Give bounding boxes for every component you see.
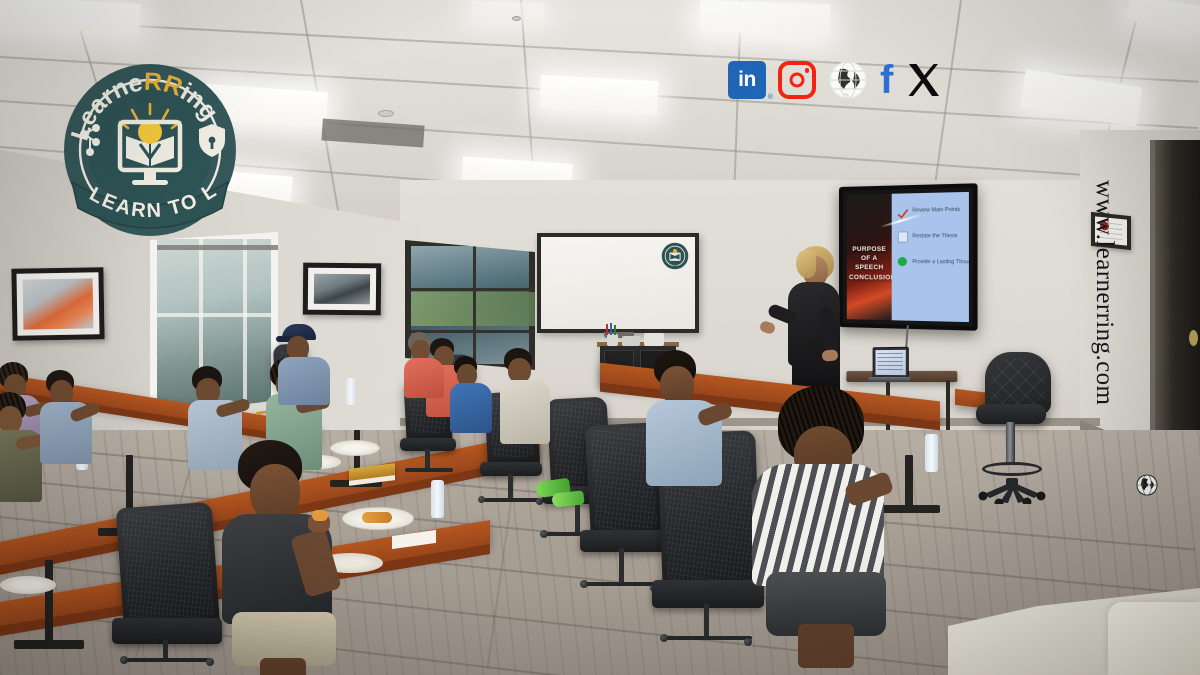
snack-plate	[0, 576, 56, 594]
water-bottle	[346, 378, 356, 405]
water-bottle	[431, 480, 444, 518]
chair-caster	[660, 634, 668, 642]
table-leg	[905, 455, 913, 511]
student-head	[0, 406, 22, 433]
globe-icon	[1136, 474, 1158, 496]
student	[44, 370, 102, 468]
website-watermark-text: www.learnerring.com	[1090, 180, 1118, 500]
pen-icon	[606, 324, 608, 335]
green-dot-icon	[898, 257, 908, 268]
chair-post	[619, 548, 624, 586]
laptop[interactable]	[873, 347, 909, 378]
slide-bullet-1-text: Review Main Points	[912, 207, 960, 214]
pen-cup	[607, 334, 618, 346]
instagram-dot	[805, 68, 810, 73]
framed-osprey-photo	[303, 263, 381, 316]
whiteboard	[537, 233, 699, 333]
smoke-detector-icon	[512, 16, 521, 21]
chair-base	[666, 636, 752, 640]
door-knob-icon[interactable]	[1189, 330, 1198, 346]
slide-bullet-2-text: Restate the Thesis	[912, 234, 957, 240]
x-glyph	[905, 61, 943, 99]
mesh-office-chair[interactable]	[116, 502, 221, 636]
student	[500, 348, 556, 450]
facebook-icon[interactable]: f	[880, 62, 893, 98]
water-bottle	[925, 434, 938, 472]
adult-torso	[278, 357, 330, 405]
student	[646, 350, 728, 500]
supply-box	[622, 336, 640, 346]
instagram-lens	[790, 73, 805, 88]
chair-base	[405, 468, 453, 472]
globe-icon[interactable]	[828, 60, 868, 100]
ceiling-light-panel	[699, 0, 830, 36]
snack-food	[362, 512, 392, 523]
presenter	[770, 246, 860, 396]
slide-bullet-3-text: Provide a Lasting Thought	[912, 260, 969, 266]
student-torso	[404, 358, 444, 398]
linkedin-icon[interactable]: in ®	[728, 61, 766, 99]
drafting-chair-cylinder	[1006, 422, 1015, 464]
chair-caster	[206, 658, 214, 666]
laptop-screen	[875, 350, 905, 375]
social-media-icon-bar: in ®	[728, 56, 943, 104]
chair-caster	[540, 530, 548, 538]
table-leg	[45, 560, 53, 646]
x-twitter-icon[interactable]	[905, 61, 943, 99]
student	[406, 332, 448, 394]
document-icon	[898, 231, 908, 242]
slide-bullet-3: Provide a Lasting Thought	[898, 257, 964, 269]
tv-screen: PURPOSE OF A SPEECH CONCLUSION Review Ma…	[847, 192, 969, 322]
slide-bullet-panel: Review Main Points Restate the Thesis Pr…	[892, 192, 969, 322]
student-head	[250, 464, 300, 520]
tissue-box	[644, 333, 664, 346]
helicopter-photo-image	[23, 278, 94, 329]
ceiling-light-panel	[472, 1, 545, 22]
table-foot	[14, 640, 84, 649]
learnerring-logo-badge: LearneRRing	[62, 62, 238, 238]
pen-icon	[614, 325, 616, 335]
student	[742, 386, 892, 666]
student-head	[660, 366, 694, 404]
instagram-icon[interactable]	[778, 61, 816, 99]
ceiling-light-panel	[539, 75, 659, 115]
drafting-chair-footring	[982, 462, 1042, 476]
drafting-chair-base	[978, 478, 1048, 488]
student-torso	[450, 383, 492, 433]
student-torso	[500, 380, 550, 444]
chair-caster	[120, 656, 128, 664]
chair-caster	[580, 580, 588, 588]
chair-quilted-texture	[991, 358, 1045, 408]
student	[452, 356, 498, 436]
student	[216, 440, 346, 675]
chair-caster	[478, 496, 485, 503]
chair-post	[704, 604, 709, 640]
framed-helicopter-photo	[11, 267, 104, 341]
chair-base	[484, 498, 540, 502]
chair-base	[586, 582, 658, 586]
student-leg	[798, 624, 854, 668]
smoke-detector-icon	[378, 110, 394, 117]
window-glass-tint	[411, 292, 541, 326]
white-cloth-fold	[1108, 602, 1200, 675]
chair-mesh-back	[121, 506, 215, 626]
pen-icon	[610, 323, 612, 335]
facebook-label: f	[880, 62, 893, 98]
osprey-photo-image	[314, 274, 370, 304]
learnerring-logo-small	[661, 242, 689, 270]
adult-attendee	[276, 324, 338, 402]
laptop-keyboard	[867, 377, 910, 382]
snack-in-hand	[312, 510, 328, 521]
linkedin-label: in	[738, 68, 756, 92]
slide-bullet-1: Review Main Points	[898, 205, 964, 218]
chair-base	[126, 658, 210, 662]
slide-bullet-2: Restate the Thesis	[898, 231, 964, 243]
classroom-photo-scene: PURPOSE OF A SPEECH CONCLUSION Review Ma…	[0, 0, 1200, 675]
check-mark-icon	[898, 206, 908, 217]
registered-mark: ®	[768, 94, 773, 101]
presenter-hair-sweep	[796, 250, 816, 278]
chair-post	[575, 502, 580, 536]
student-leg	[260, 658, 306, 675]
drafting-chair-seat	[976, 404, 1046, 424]
